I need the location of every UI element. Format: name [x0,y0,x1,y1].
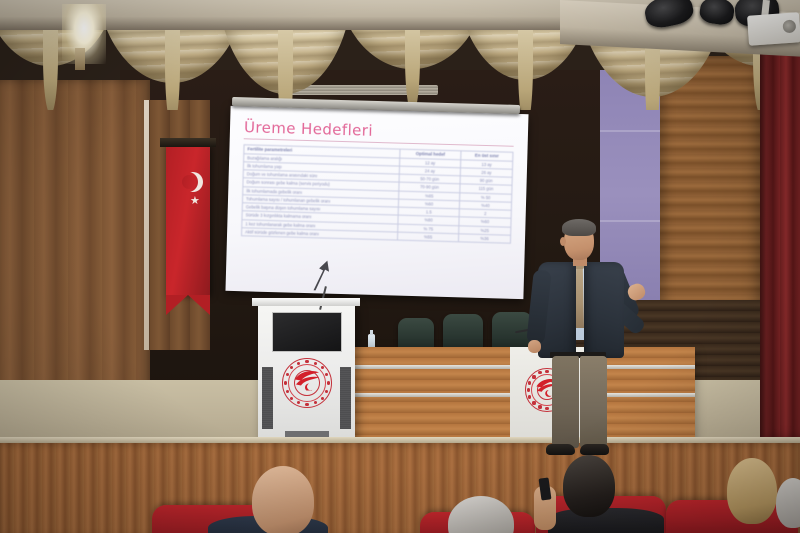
audience-head-blonde [727,458,777,524]
speaker-grille [262,367,273,429]
seal-dot [305,360,308,363]
seal-dot [321,397,324,400]
audience-shoulders [548,508,664,533]
presenter-shoe-left [546,444,575,455]
presenter-shoe-right [580,444,609,455]
lectern [258,303,355,450]
seal-dot [284,381,287,384]
presenter [520,222,660,454]
table-cell: %55 [397,232,458,242]
conference-hall-photo: ★ Üreme Hedefleri Fertilite parametreler… [0,0,800,533]
wall-sconce-icon [75,48,85,70]
turkish-flag-banner [166,145,210,295]
projection-screen[interactable]: Üreme Hedefleri Fertilite parametreleriO… [225,106,528,299]
presenter-ear [560,237,566,246]
seal-dot [327,381,330,384]
speaker-grille [340,367,351,429]
presenter-hair [562,219,596,236]
ministry-emblem-motif [293,368,321,391]
ministry-seal-icon [282,358,332,408]
seal-dot [305,403,308,406]
presenter-jacket-right [584,262,624,358]
seal-dot [314,362,317,365]
ceiling-projector-icon [747,12,800,46]
seal-dot [286,390,289,393]
flag-rod [160,138,216,147]
flag-tail [166,295,210,315]
slide-content: Üreme Hedefleri Fertilite parametreleriO… [225,106,528,299]
presenter-left-hand [528,340,541,353]
audience-head-bald [252,466,314,533]
star-icon: ★ [190,196,200,207]
side-curtain [760,40,800,440]
lectern-top [252,298,360,306]
stage-edge [0,437,800,443]
presenter-trousers-right [580,356,607,448]
table-cell: %36 [458,234,510,244]
presenter-trousers-left [552,356,579,448]
audience-head-dark-hair [563,455,615,517]
fertility-table: Fertilite parametreleriOptimal hedefEn ü… [241,144,513,244]
audience-head-grey [776,478,800,528]
crescent-icon [178,172,198,192]
presenter-tie [575,264,584,328]
wall-gap-light [144,100,149,350]
confidence-monitor[interactable] [272,312,342,352]
